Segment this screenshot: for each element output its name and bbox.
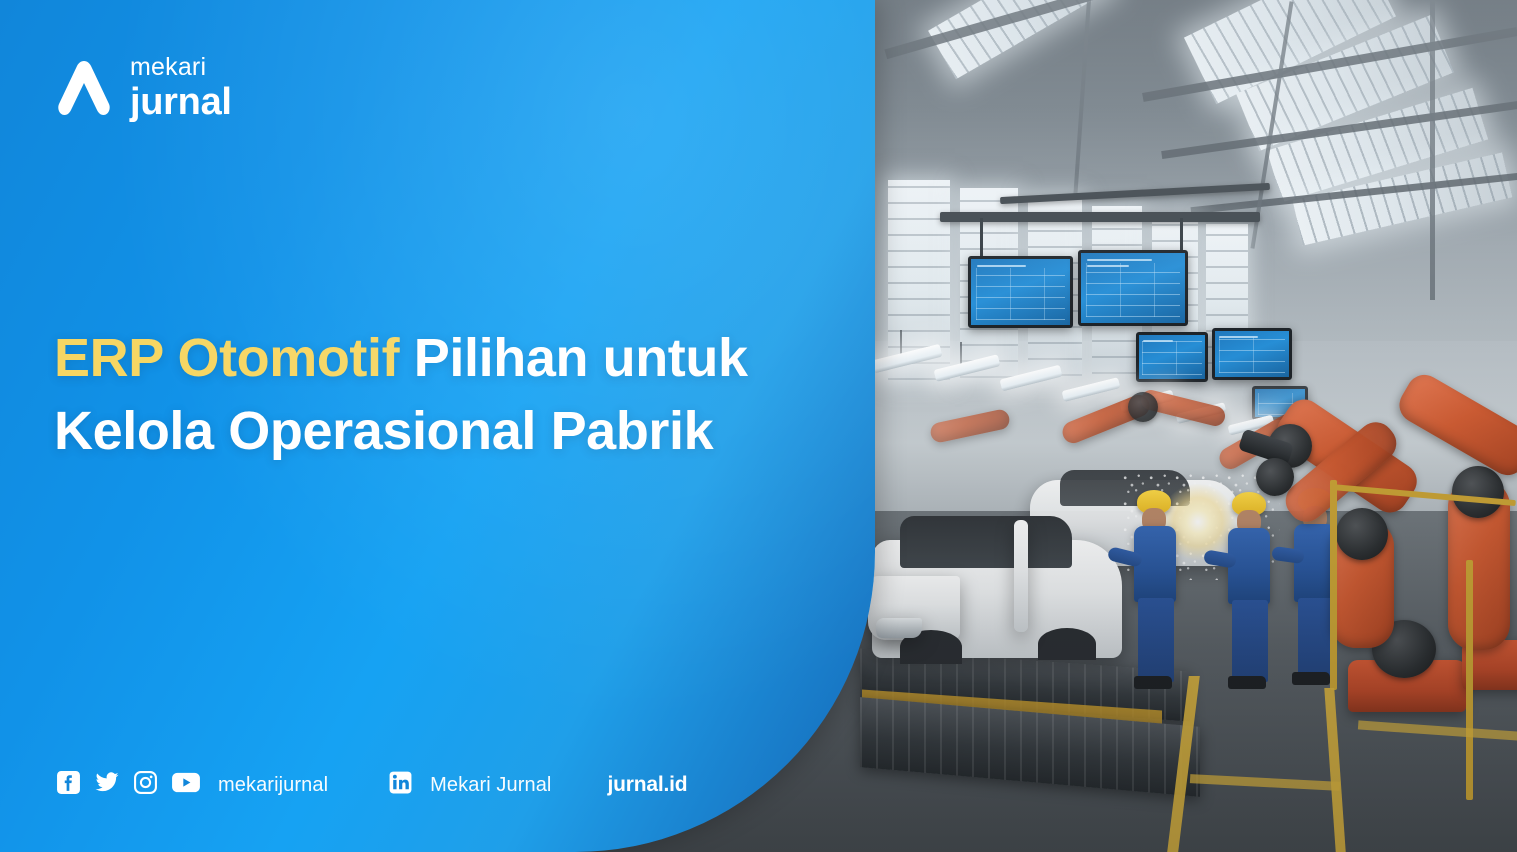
worker-legs — [1138, 598, 1174, 682]
robot-joint — [1128, 392, 1158, 422]
social-group: mekarijurnal — [56, 770, 328, 800]
logo-text-mekari: mekari — [130, 55, 232, 80]
worker-boot — [1134, 676, 1172, 689]
headline-accent: ERP Otomotif — [54, 328, 399, 388]
linkedin-group: Mekari Jurnal — [388, 770, 551, 800]
social-handle-label: mekarijurnal — [218, 774, 328, 797]
worker-legs — [1298, 598, 1334, 678]
roof-truss — [1430, 0, 1435, 300]
worker-boot — [1228, 676, 1266, 689]
mekari-chevron-logo-mark — [56, 57, 112, 119]
overhead-gantry — [940, 212, 1260, 222]
logo-wordmark: mekari jurnal — [130, 55, 232, 121]
website-label[interactable]: jurnal.id — [607, 773, 687, 797]
production-monitor — [1136, 332, 1208, 382]
twitter-icon[interactable] — [94, 770, 120, 800]
car-roof-pillar — [1014, 520, 1028, 632]
safety-railing — [1330, 480, 1337, 690]
headline-line2: Kelola Operasional Pabrik — [54, 401, 713, 461]
social-icon-row — [56, 770, 201, 800]
car-wheel-arch — [1038, 628, 1096, 660]
linkedin-icon[interactable] — [388, 770, 413, 800]
headline: ERP Otomotif Pilihan untuk Kelola Operas… — [54, 322, 844, 469]
production-monitor — [1212, 328, 1292, 380]
safety-railing — [1466, 560, 1473, 800]
worker-torso — [1228, 528, 1270, 604]
worker-boot — [1292, 672, 1330, 685]
production-monitor — [1078, 250, 1188, 326]
mekari-jurnal-logo[interactable]: mekari jurnal — [56, 55, 232, 121]
worker-torso — [1134, 526, 1176, 602]
robot-joint — [1256, 458, 1294, 496]
linkedin-label: Mekari Jurnal — [430, 774, 551, 797]
worker-legs — [1232, 600, 1268, 682]
logo-text-jurnal: jurnal — [130, 83, 232, 121]
monitor-hanger — [980, 218, 983, 258]
car-headlight — [876, 618, 922, 638]
production-monitor — [968, 256, 1073, 328]
facebook-icon[interactable] — [56, 770, 81, 800]
robot-joint — [1452, 466, 1504, 518]
banner-canvas: mekari jurnal ERP Otomotif Pilihan untuk… — [0, 0, 1517, 852]
car-cabin — [900, 516, 1072, 568]
instagram-icon[interactable] — [133, 770, 158, 800]
blue-content-panel: mekari jurnal ERP Otomotif Pilihan untuk… — [0, 0, 875, 852]
youtube-icon[interactable] — [171, 770, 201, 800]
footer-bar: mekarijurnal Mekari Jurnal jurnal.id — [56, 770, 687, 800]
robot-joint — [1336, 508, 1388, 560]
headline-rest-line1: Pilihan untuk — [399, 328, 747, 388]
